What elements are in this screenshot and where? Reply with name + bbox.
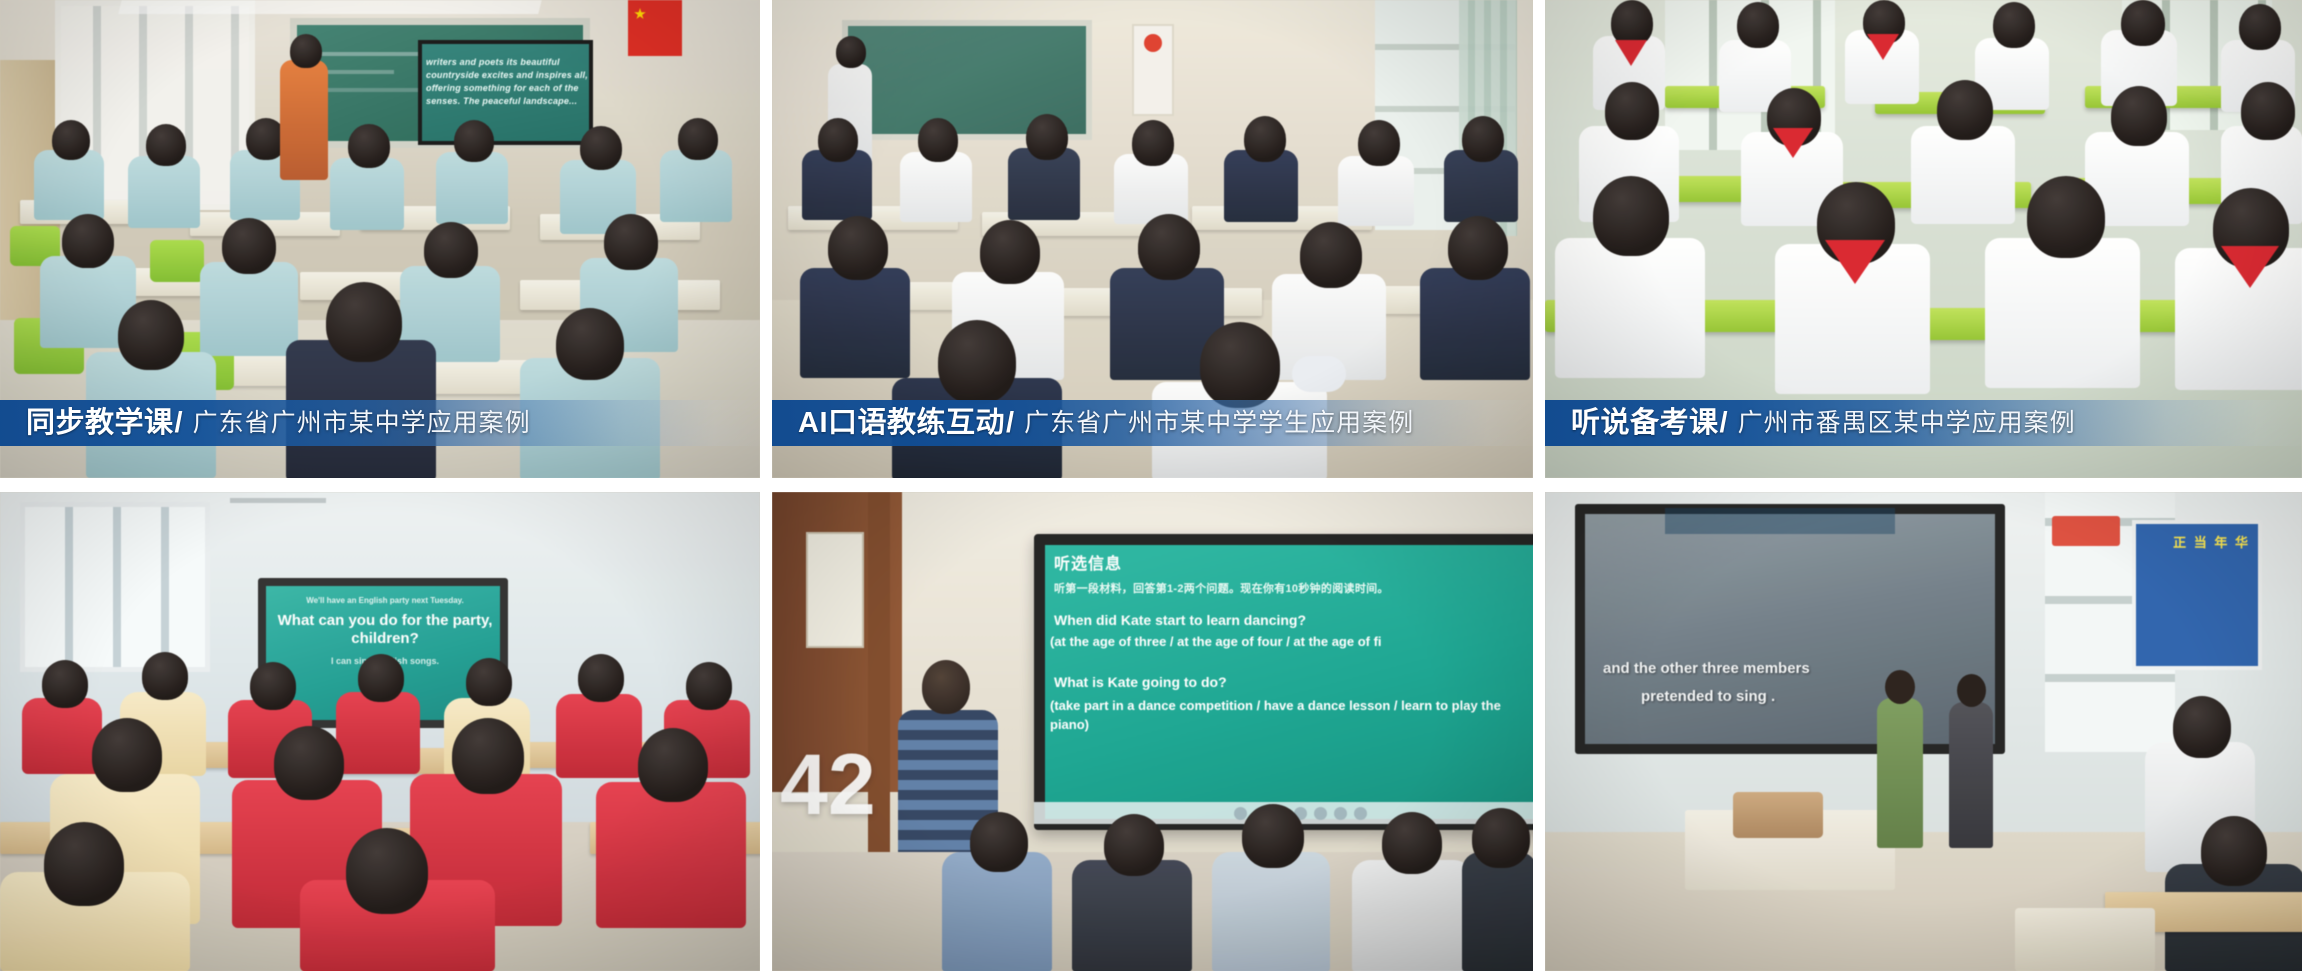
panel-3-caption-title: 听说备考课 (1571, 409, 1719, 438)
panel-2-caption-separator: / (1006, 407, 1014, 440)
panel-3-caption-subtitle: 广州市番禺区某中学应用案例 (1738, 411, 2076, 436)
case-panel-3[interactable]: 听说备考课 / 广州市番禺区某中学应用案例 (1545, 0, 2302, 478)
panel-2-caption-title: AI口语教练互动 (798, 409, 1005, 438)
panel-1-caption-separator: / (175, 407, 183, 440)
panel-5-screen-question-1-options: (at the age of three / at the age of fou… (1050, 634, 1382, 649)
panel-1-caption-title: 同步教学课 (26, 409, 174, 438)
panel-2-caption: AI口语教练互动 / 广东省广州市某中学学生应用案例 (772, 400, 1533, 446)
case-panel-1[interactable]: writers and poets its beautiful countrys… (0, 0, 760, 478)
panel-6-screen-line-2: pretended to sing . (1641, 688, 1775, 705)
grid-gap-horizontal (0, 478, 2302, 492)
case-panel-2[interactable]: AI口语教练互动 / 广东省广州市某中学学生应用案例 (772, 0, 1533, 478)
panel-5-photo: 听选信息 听第一段材料，回答第1-2两个问题。现在你有10秒钟的阅读时间。 Wh… (772, 492, 1533, 971)
panel-5-slide-number: 42 (780, 742, 876, 828)
taskbar-undo-icon[interactable] (1314, 807, 1327, 820)
panel-5-screen-title: 听选信息 (1054, 550, 1122, 574)
taskbar-more-icon[interactable] (1354, 807, 1367, 820)
panel-1-caption: 同步教学课 / 广东省广州市某中学应用案例 (0, 400, 760, 446)
panel-5-screen-instruction: 听第一段材料，回答第1-2两个问题。现在你有10秒钟的阅读时间。 (1054, 580, 1389, 596)
panel-3-caption: 听说备考课 / 广州市番禺区某中学应用案例 (1545, 400, 2302, 446)
panel-2-caption-subtitle: 广东省广州市某中学学生应用案例 (1024, 411, 1414, 436)
panel-5-screen-question-2: What is Kate going to do? (1054, 674, 1227, 690)
panel-4-screen-line-1: We'll have an English party next Tuesday… (276, 596, 494, 605)
grid-gap-vertical-1 (760, 0, 772, 478)
panel-4-photo: We'll have an English party next Tuesday… (0, 492, 760, 971)
case-panel-4[interactable]: We'll have an English party next Tuesday… (0, 492, 760, 971)
grid-gap-vertical-4 (1533, 492, 1545, 971)
taskbar-home-icon[interactable] (1234, 807, 1247, 820)
grid-gap-vertical-3 (760, 492, 772, 971)
panel-6-photo: and the other three members pretended to… (1545, 492, 2302, 971)
panel-3-caption-separator: / (1720, 407, 1728, 440)
taskbar-redo-icon[interactable] (1334, 807, 1347, 820)
panel-1-caption-subtitle: 广东省广州市某中学应用案例 (193, 411, 531, 436)
panel-6-screen-line-1: and the other three members (1603, 660, 1810, 677)
panel-5-screen-question-1: When did Kate start to learn dancing? (1054, 612, 1306, 628)
case-gallery-grid: writers and poets its beautiful countrys… (0, 0, 2302, 971)
grid-gap-vertical-2 (1533, 0, 1545, 478)
panel-6-wall-poster-text: 正 当 年 华 (2173, 532, 2250, 551)
case-panel-5[interactable]: 听选信息 听第一段材料，回答第1-2两个问题。现在你有10秒钟的阅读时间。 Wh… (772, 492, 1533, 971)
case-panel-6[interactable]: and the other three members pretended to… (1545, 492, 2302, 971)
panel-4-screen-line-2: What can you do for the party, children? (272, 612, 498, 648)
panel-5-screen-question-2-options: (take part in a dance competition / have… (1050, 696, 1510, 734)
